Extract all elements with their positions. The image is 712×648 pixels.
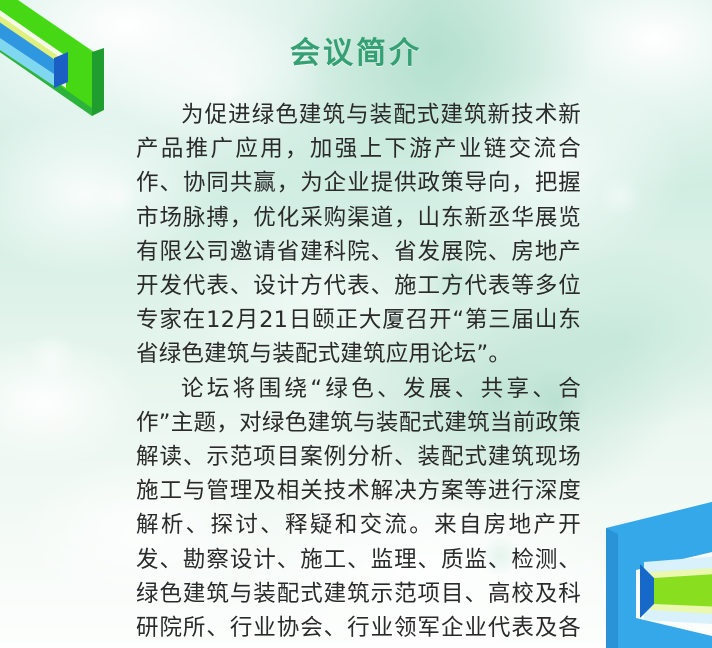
body-copy: 为促进绿色建筑与装配式建筑新技术新产品推广应用，加强上下游产业链交流合作、协同共… bbox=[136, 98, 581, 648]
conference-intro-poster: 会议简介 为促进绿色建筑与装配式建筑新技术新产品推广应用，加强上下游产业链交流合… bbox=[0, 0, 712, 648]
paragraph-1: 为促进绿色建筑与装配式建筑新技术新产品推广应用，加强上下游产业链交流合作、协同共… bbox=[136, 98, 581, 372]
poster-content: 会议简介 为促进绿色建筑与装配式建筑新技术新产品推广应用，加强上下游产业链交流合… bbox=[0, 0, 712, 648]
page-title: 会议简介 bbox=[0, 28, 712, 72]
paragraph-2: 论坛将围绕“绿色、发展、共享、合作”主题，对绿色建筑与装配式建筑当前政策解读、示… bbox=[136, 372, 581, 648]
